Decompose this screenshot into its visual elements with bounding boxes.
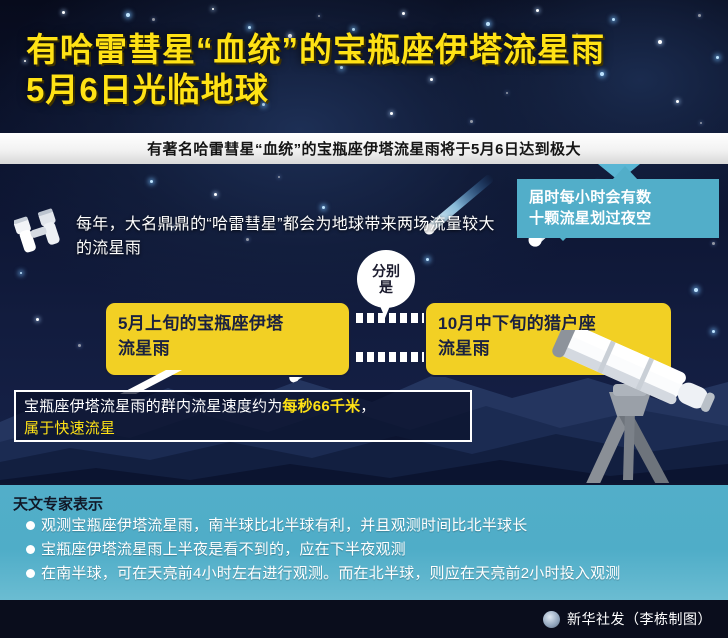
- footer-bar: 新华社发（李栋制图）: [0, 600, 728, 638]
- title-line-2: 5月6日光临地球: [26, 70, 706, 110]
- cyan-callout-line-2: 十颗流星划过夜空: [529, 208, 709, 229]
- speed-note-comma: ，: [360, 398, 375, 415]
- binoculars-icon: [14, 207, 72, 259]
- expert-panel: 天文专家表示 观测宝瓶座伊塔流星雨，南半球比北半球有利，并且观测时间比北半球长 …: [0, 483, 728, 602]
- bullet-dot-icon: [26, 545, 35, 554]
- speed-note-highlight: 每秒66千米: [282, 398, 360, 415]
- expert-bullet-3: 在南半球，可在天亮前4小时左右进行观测。而在北半球，则应在天亮前2小时投入观测: [41, 563, 621, 585]
- poster-title: 有哈雷彗星“血统”的宝瓶座伊塔流星雨 5月6日光临地球: [26, 30, 706, 110]
- expert-bullet-1: 观测宝瓶座伊塔流星雨，南半球比北半球有利，并且观测时间比北半球长: [41, 515, 527, 537]
- shower-box-eta-aquariids: 5月上旬的宝瓶座伊塔 流星雨: [104, 301, 351, 377]
- dashed-connector-bottom: [356, 352, 429, 362]
- expert-heading: 天文专家表示: [13, 493, 103, 514]
- cyan-callout-bottom-notch-icon: [549, 227, 577, 241]
- xinhua-logo-icon: [543, 611, 560, 628]
- bullet-dot-icon: [26, 521, 35, 530]
- bullet-dot-icon: [26, 569, 35, 578]
- title-line-1: 有哈雷彗星“血统”的宝瓶座伊塔流星雨: [26, 30, 706, 70]
- bubble-line-1: 分别: [372, 263, 400, 279]
- list-item: 宝瓶座伊塔流星雨上半夜是看不到的，应在下半夜观测: [26, 539, 716, 561]
- infographic-poster: 有哈雷彗星“血统”的宝瓶座伊塔流星雨 5月6日光临地球 有著名哈雷彗星“血统”的…: [0, 0, 728, 638]
- speed-note-prefix: 宝瓶座伊塔流星雨的群内流星速度约为: [24, 398, 282, 415]
- speed-note-line-1: 宝瓶座伊塔流星雨的群内流星速度约为每秒66千米，: [24, 396, 462, 418]
- list-item: 观测宝瓶座伊塔流星雨，南半球比北半球有利，并且观测时间比北半球长: [26, 515, 716, 537]
- cyan-callout: 届时每小时会有数 十颗流星划过夜空: [517, 179, 719, 238]
- cyan-callout-line-1: 届时每小时会有数: [529, 187, 709, 208]
- footer-credit: 新华社发（李栋制图）: [567, 609, 712, 629]
- dashed-connector-top: [356, 313, 429, 323]
- shower-box-left-line-2: 流星雨: [118, 336, 337, 361]
- subtitle-text: 有著名哈雷彗星“血统”的宝瓶座伊塔流星雨将于5月6日达到极大: [147, 138, 581, 159]
- subtitle-bar: 有著名哈雷彗星“血统”的宝瓶座伊塔流星雨将于5月6日达到极大: [0, 133, 728, 164]
- telescope-icon: [547, 330, 719, 498]
- intro-paragraph: 每年，大名鼎鼎的“哈雷彗星”都会为地球带来两场流量较大的流星雨: [76, 213, 496, 261]
- connector-speech-bubble: 分别 是: [357, 250, 415, 308]
- expert-bullet-2: 宝瓶座伊塔流星雨上半夜是看不到的，应在下半夜观测: [41, 539, 406, 561]
- bubble-line-2: 是: [379, 279, 393, 295]
- cyan-callout-top-notch-icon: [612, 166, 638, 180]
- speed-note-line-2: 属于快速流星: [24, 418, 462, 440]
- list-item: 在南半球，可在天亮前4小时左右进行观测。而在北半球，则应在天亮前2小时投入观测: [26, 563, 716, 585]
- shower-box-left-line-1: 5月上旬的宝瓶座伊塔: [118, 311, 337, 336]
- expert-bullet-list: 观测宝瓶座伊塔流星雨，南半球比北半球有利，并且观测时间比北半球长 宝瓶座伊塔流星…: [26, 515, 716, 587]
- speed-note-box: 宝瓶座伊塔流星雨的群内流星速度约为每秒66千米， 属于快速流星: [14, 390, 472, 442]
